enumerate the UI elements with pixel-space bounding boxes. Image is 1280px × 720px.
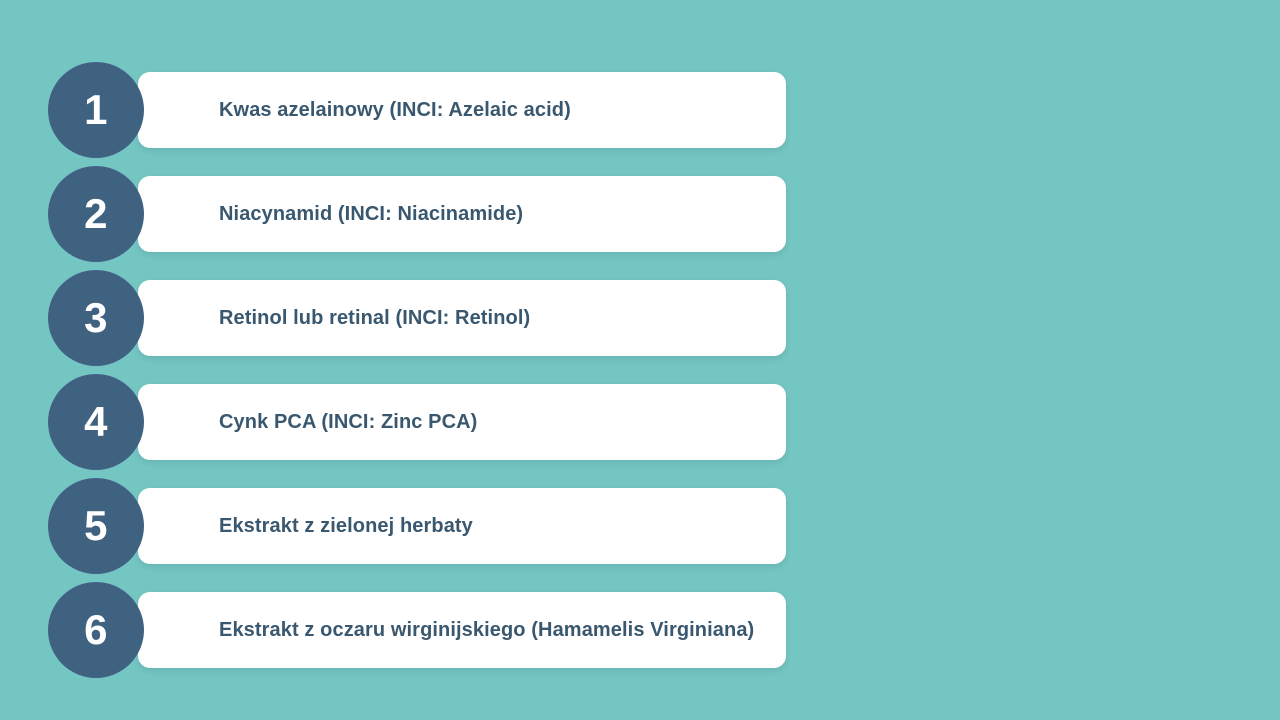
list-item-number-badge: 4 [48, 374, 144, 470]
list-item-label: Retinol lub retinal (INCI: Retinol) [219, 307, 530, 330]
list-item: Kwas azelainowy (INCI: Azelaic acid) 1 [48, 72, 788, 148]
list-item: Cynk PCA (INCI: Zinc PCA) 4 [48, 384, 788, 460]
list-item-card: Ekstrakt z oczaru wirginijskiego (Hamame… [138, 592, 786, 668]
list-item-number: 4 [84, 401, 108, 443]
list-item-card: Retinol lub retinal (INCI: Retinol) [138, 280, 786, 356]
list-item-number: 3 [84, 297, 108, 339]
list-item-label: Cynk PCA (INCI: Zinc PCA) [219, 411, 477, 434]
list-item-number: 1 [84, 89, 108, 131]
list-item-card: Kwas azelainowy (INCI: Azelaic acid) [138, 72, 786, 148]
list-item: Ekstrakt z oczaru wirginijskiego (Hamame… [48, 592, 788, 668]
list-item-label: Kwas azelainowy (INCI: Azelaic acid) [219, 99, 571, 122]
numbered-ingredient-list: Kwas azelainowy (INCI: Azelaic acid) 1 N… [48, 72, 788, 668]
list-item-number-badge: 5 [48, 478, 144, 574]
list-item-card: Cynk PCA (INCI: Zinc PCA) [138, 384, 786, 460]
list-item-number: 6 [84, 609, 108, 651]
list-item-number-badge: 3 [48, 270, 144, 366]
list-item-label: Niacynamid (INCI: Niacinamide) [219, 203, 523, 226]
list-item: Niacynamid (INCI: Niacinamide) 2 [48, 176, 788, 252]
list-item: Ekstrakt z zielonej herbaty 5 [48, 488, 788, 564]
list-item-card: Ekstrakt z zielonej herbaty [138, 488, 786, 564]
list-item: Retinol lub retinal (INCI: Retinol) 3 [48, 280, 788, 356]
list-item-number-badge: 6 [48, 582, 144, 678]
list-item-label: Ekstrakt z oczaru wirginijskiego (Hamame… [219, 619, 754, 642]
slide-canvas: Kwas azelainowy (INCI: Azelaic acid) 1 N… [0, 0, 1280, 720]
list-item-number-badge: 2 [48, 166, 144, 262]
list-item-number: 5 [84, 505, 108, 547]
list-item-label: Ekstrakt z zielonej herbaty [219, 515, 473, 538]
list-item-number: 2 [84, 193, 108, 235]
list-item-number-badge: 1 [48, 62, 144, 158]
list-item-card: Niacynamid (INCI: Niacinamide) [138, 176, 786, 252]
